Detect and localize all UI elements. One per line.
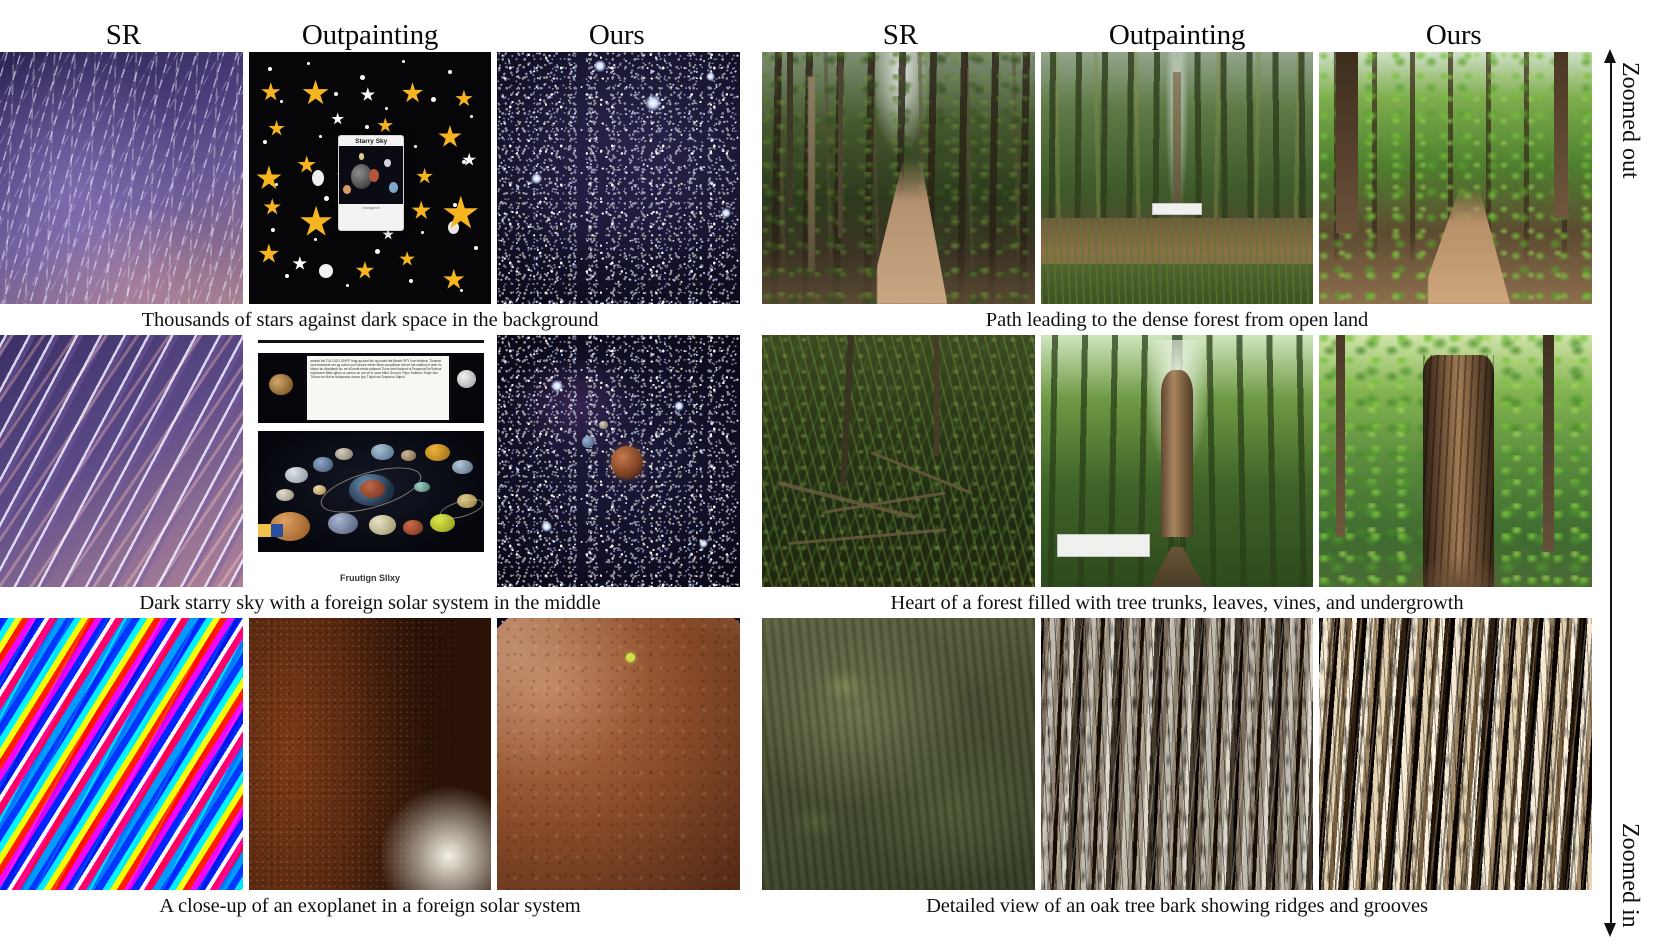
caption-space-zoomed-out: Thousands of stars against dark space in… (0, 304, 740, 335)
image-space-zoomedin-ours (497, 618, 740, 890)
zoom-level-axis: Zoomed out Zoomed in (1596, 48, 1655, 938)
caption-forest-zoomed-out: Path leading to the dense forest from op… (762, 304, 1592, 335)
panel-space: SR Outpainting Ours (0, 0, 740, 921)
image-forest-zoomedin-ours (1319, 618, 1592, 890)
column-headers-right: SR Outpainting Ours (762, 0, 1592, 52)
column-header-ours-forest: Ours (1315, 20, 1592, 50)
image-space-zoomedin-outpainting (249, 618, 492, 890)
row-space-mid: search list TUL DOG-33VFF hiug qq tourl … (0, 335, 740, 618)
caption-forest-zoomed-in: Detailed view of an oak tree bark showin… (762, 890, 1592, 921)
image-space-zoomedout-outpainting: Starry Sky instagram (249, 52, 492, 304)
row-forest-zoomed-out: Path leading to the dense forest from op… (762, 52, 1592, 335)
image-space-zoomedout-ours (497, 52, 740, 304)
image-space-mid-ours (497, 335, 740, 587)
caption-space-mid: Dark starry sky with a foreign solar sys… (0, 587, 740, 618)
zoom-axis-label-top: Zoomed out (1618, 62, 1642, 179)
zoom-axis-line (1610, 62, 1612, 924)
column-headers-left: SR Outpainting Ours (0, 0, 740, 52)
arrow-up-icon (1604, 49, 1616, 63)
image-forest-zoomedin-outpainting (1041, 618, 1314, 890)
image-space-zoomedin-sr (0, 618, 243, 890)
row-forest-zoomed-in: Detailed view of an oak tree bark showin… (762, 618, 1592, 921)
column-header-outpainting-forest: Outpainting (1039, 20, 1316, 50)
row-space-zoomed-out: Starry Sky instagram (0, 52, 740, 335)
image-forest-mid-ours (1319, 335, 1592, 587)
comparison-figure: SR Outpainting Ours (0, 0, 1655, 945)
embedded-document-text: search list TUL DOG-33VFF hiug qq tourl … (307, 356, 450, 421)
image-space-mid-outpainting: search list TUL DOG-33VFF hiug qq tourl … (249, 335, 492, 587)
zoom-axis-label-bottom: Zoomed in (1618, 823, 1642, 928)
caption-forest-mid: Heart of a forest filled with tree trunk… (762, 587, 1592, 618)
starry-sky-card-title: Starry Sky (339, 136, 403, 146)
caption-space-zoomed-in: A close-up of an exoplanet in a foreign … (0, 890, 740, 921)
column-header-ours: Ours (493, 20, 740, 50)
image-forest-mid-sr (762, 335, 1035, 587)
starry-sky-card: Starry Sky instagram (338, 135, 404, 231)
row-space-zoomed-in: A close-up of an exoplanet in a foreign … (0, 618, 740, 921)
column-header-sr: SR (0, 20, 247, 50)
arrow-down-icon (1604, 923, 1616, 937)
panel-forest: SR Outpainting Ours (762, 0, 1592, 921)
image-forest-zoomedout-ours (1319, 52, 1592, 304)
outpainting-label-card-mid (1057, 534, 1150, 557)
image-space-mid-sr (0, 335, 243, 587)
row-forest-mid: Heart of a forest filled with tree trunk… (762, 335, 1592, 618)
image-space-zoomedout-sr (0, 52, 243, 304)
image-forest-zoomedout-outpainting (1041, 52, 1314, 304)
starry-sky-card-footer: instagram (339, 204, 403, 211)
solar-embedded-footer: Fruutign Sllxy (249, 573, 492, 583)
column-header-sr-forest: SR (762, 20, 1039, 50)
image-forest-zoomedin-sr (762, 618, 1035, 890)
image-forest-zoomedout-sr (762, 52, 1035, 304)
image-forest-mid-outpainting (1041, 335, 1314, 587)
column-header-outpainting: Outpainting (247, 20, 494, 50)
outpainting-caption-card (1152, 203, 1201, 214)
